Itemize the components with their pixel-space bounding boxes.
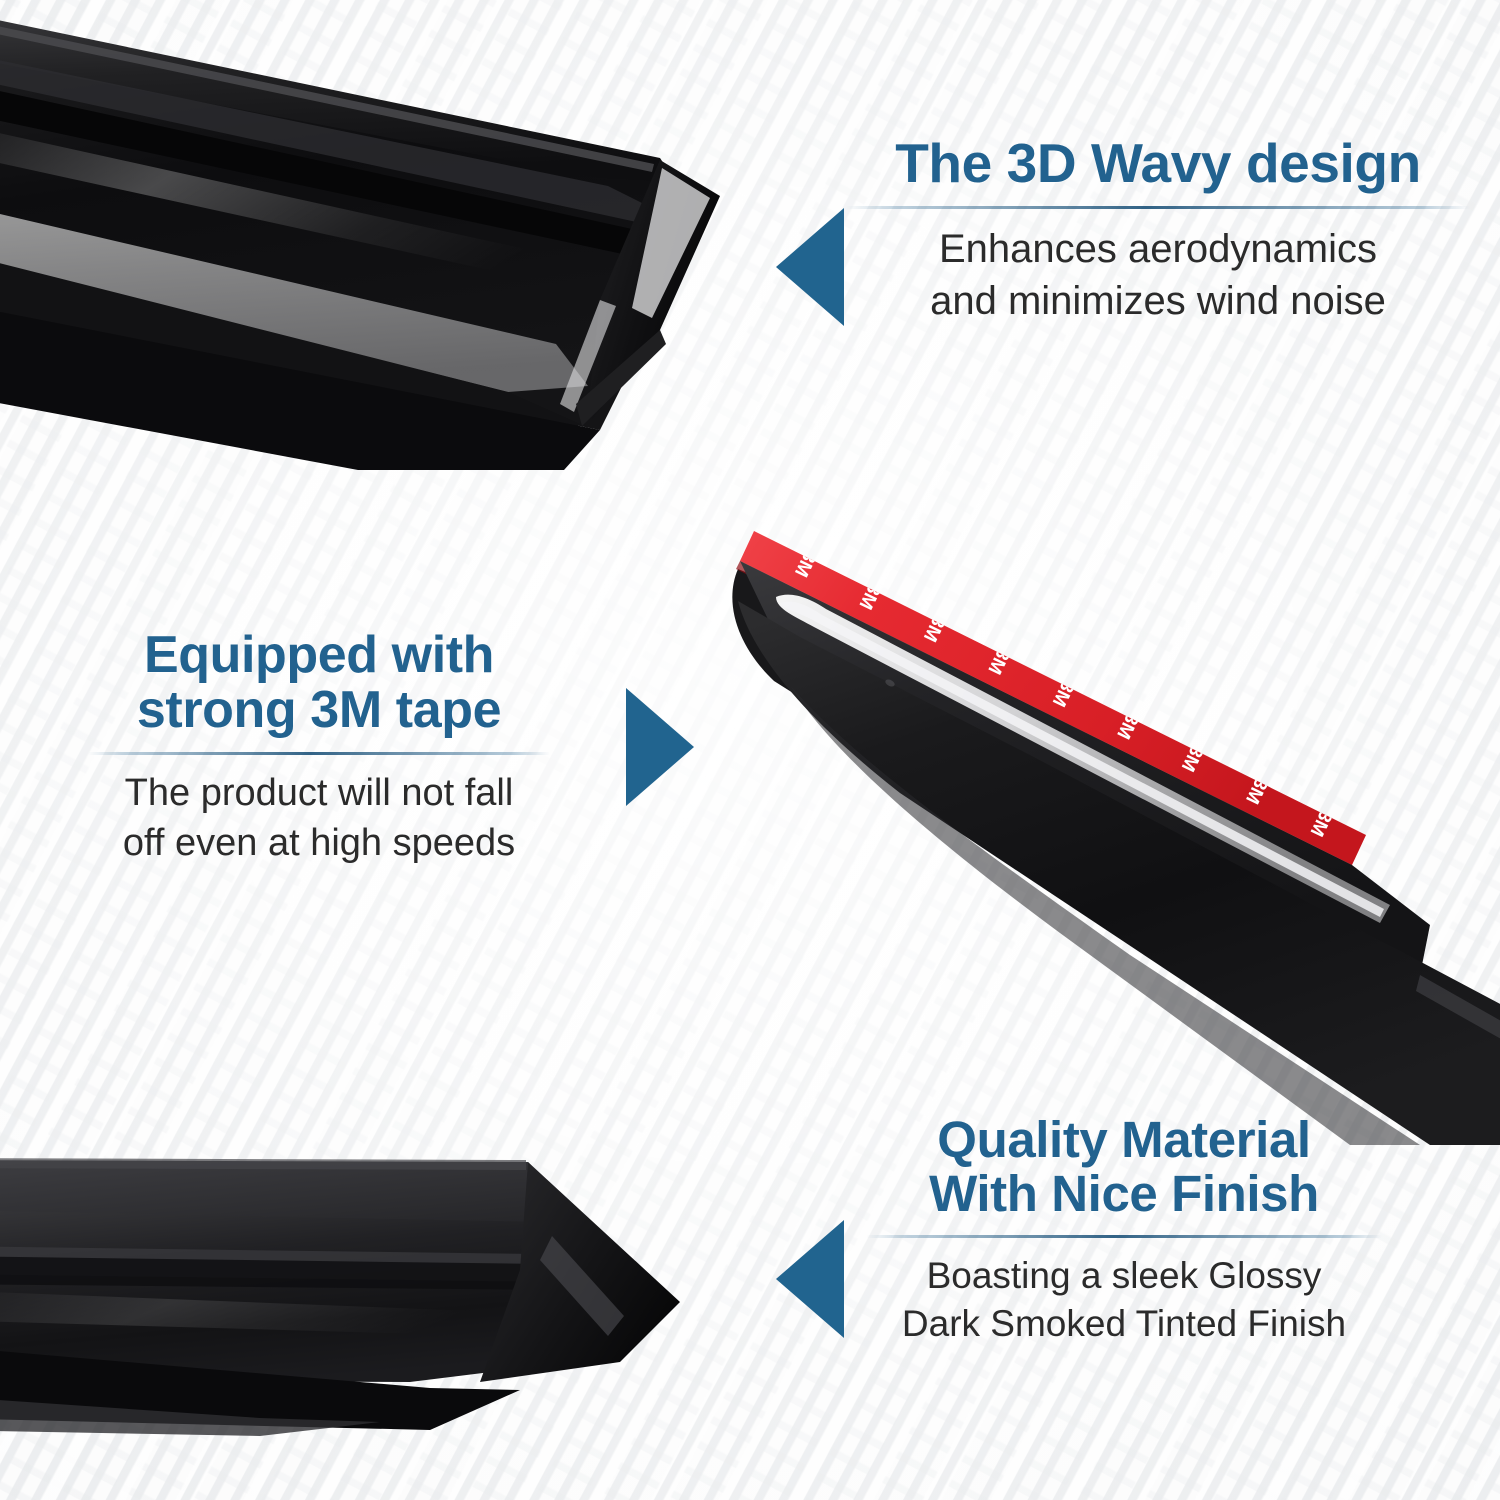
- feature-divider-quality: [866, 1235, 1382, 1238]
- arrow-right-icon-tape: [622, 686, 698, 808]
- feature-headline-tape: Equipped with strong 3M tape: [88, 628, 550, 738]
- feature-block-3m-tape: Equipped with strong 3M tape The product…: [88, 628, 550, 868]
- feature-subtext-quality: Boasting a sleek Glossy Dark Smoked Tint…: [866, 1252, 1382, 1348]
- feature-headline-tape-line2: strong 3M tape: [137, 681, 501, 739]
- feature-subtext-tape-line1: The product will not fall: [125, 772, 514, 814]
- feature-block-wavy-design: The 3D Wavy design Enhances aerodynamics…: [846, 134, 1470, 327]
- infographic-canvas: 3M3M3M3M3M3M3M3M3M: [0, 0, 1500, 1500]
- product-image-visor-top-left: [0, 0, 760, 510]
- arrow-left-icon-wavy: [772, 206, 848, 328]
- feature-headline-wavy: The 3D Wavy design: [846, 134, 1470, 192]
- product-image-visor-bottom-left: [0, 1150, 780, 1500]
- feature-subtext-wavy: Enhances aerodynamics and minimizes wind…: [846, 223, 1470, 327]
- feature-divider-wavy: [846, 206, 1470, 209]
- feature-subtext-quality-line1: Boasting a sleek Glossy: [927, 1255, 1322, 1296]
- arrow-left-icon-quality: [772, 1218, 848, 1340]
- feature-subtext-tape: The product will not fall off even at hi…: [88, 769, 550, 868]
- product-image-visor-middle-right: 3M3M3M3M3M3M3M3M3M: [730, 505, 1500, 1145]
- feature-headline-quality: Quality Material With Nice Finish: [866, 1113, 1382, 1221]
- feature-headline-tape-line1: Equipped with: [144, 626, 494, 684]
- feature-headline-quality-line2: With Nice Finish: [929, 1165, 1319, 1222]
- feature-block-quality-material: Quality Material With Nice Finish Boasti…: [866, 1113, 1382, 1348]
- feature-headline-quality-line1: Quality Material: [937, 1111, 1310, 1168]
- feature-subtext-tape-line2: off even at high speeds: [123, 822, 515, 864]
- feature-subtext-quality-line2: Dark Smoked Tinted Finish: [902, 1303, 1346, 1344]
- feature-subtext-wavy-line1: Enhances aerodynamics: [939, 227, 1377, 271]
- feature-divider-tape: [88, 752, 550, 755]
- feature-subtext-wavy-line2: and minimizes wind noise: [930, 279, 1386, 323]
